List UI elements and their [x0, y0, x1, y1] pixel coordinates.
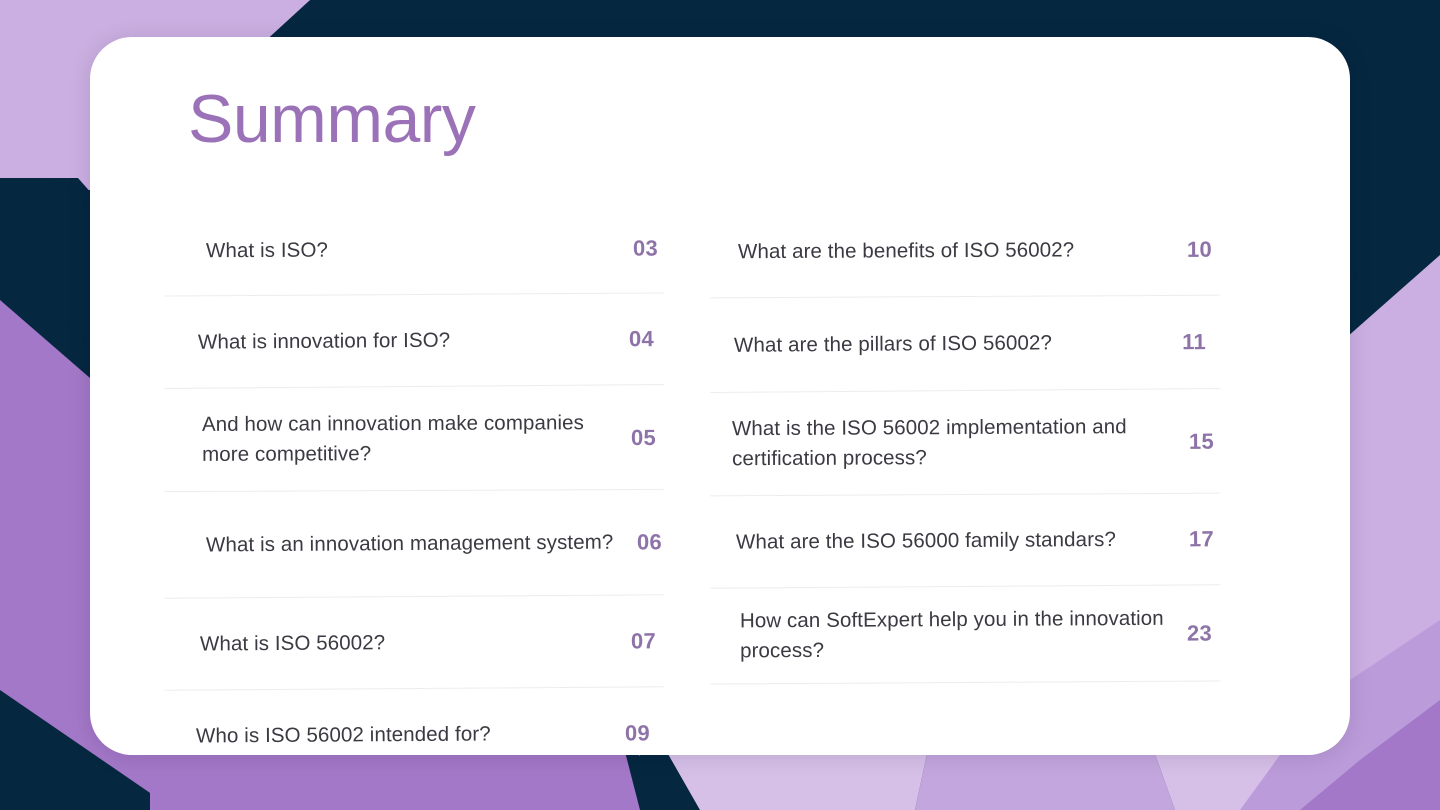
toc-item-page: 15	[1189, 428, 1214, 454]
toc-right-column: What are the benefits of ISO 56002? 10 W…	[710, 205, 1220, 683]
toc-item-page: 06	[637, 529, 662, 555]
toc-item[interactable]: What are the benefits of ISO 56002? 10	[710, 204, 1220, 299]
content-card: Summary What is ISO? 03 What is innovati…	[90, 37, 1350, 755]
toc-item-page: 05	[631, 424, 656, 450]
toc-item-page: 09	[625, 720, 650, 746]
toc-item-label: What is innovation for ISO?	[198, 326, 450, 357]
toc-item-label: What is ISO 56002?	[200, 628, 385, 658]
toc-item-label: What is the ISO 56002 implementation and…	[732, 412, 1175, 473]
toc-item-label: How can SoftExpert help you in the innov…	[740, 604, 1173, 665]
toc-item[interactable]: How can SoftExpert help you in the innov…	[710, 585, 1221, 684]
toc-item-label: What are the ISO 56000 family standars?	[736, 525, 1116, 557]
toc-item-label: And how can innovation make companies mo…	[202, 409, 617, 469]
toc-item[interactable]: What are the ISO 56000 family standars? …	[710, 493, 1221, 589]
summary-slide: Summary What is ISO? 03 What is innovati…	[0, 0, 1440, 810]
toc-item-label: What is an innovation management system?	[206, 528, 614, 560]
toc-item[interactable]: What is ISO 56002? 07	[164, 595, 665, 690]
toc-item-page: 17	[1189, 526, 1214, 552]
toc-item-label: What are the benefits of ISO 56002?	[738, 235, 1074, 266]
toc-item[interactable]: What is an innovation management system?…	[164, 489, 665, 598]
toc-item-page: 04	[629, 326, 654, 352]
toc-item[interactable]: What is the ISO 56002 implementation and…	[710, 390, 1221, 497]
toc-item[interactable]: What is innovation for ISO? 04	[164, 293, 665, 389]
toc-item-label: What are the pillars of ISO 56002?	[734, 328, 1052, 360]
toc-item-page: 11	[1182, 329, 1206, 355]
toc-item[interactable]: Who is ISO 56002 intended for? 09	[164, 687, 665, 755]
toc-item-page: 23	[1187, 620, 1212, 646]
toc-left-column: What is ISO? 03 What is innovation for I…	[164, 205, 664, 755]
page-title: Summary	[188, 85, 475, 153]
toc-item-page: 10	[1187, 236, 1212, 262]
toc-item-label: Who is ISO 56002 intended for?	[196, 719, 491, 750]
toc-item[interactable]: What are the pillars of ISO 56002? 11	[710, 295, 1221, 393]
toc-item[interactable]: What is ISO? 03	[164, 203, 665, 296]
toc-item[interactable]: And how can innovation make companies mo…	[164, 386, 664, 492]
toc-item-page: 07	[631, 628, 656, 654]
toc-item-label: What is ISO?	[206, 235, 328, 265]
toc-item-page: 03	[633, 235, 658, 261]
